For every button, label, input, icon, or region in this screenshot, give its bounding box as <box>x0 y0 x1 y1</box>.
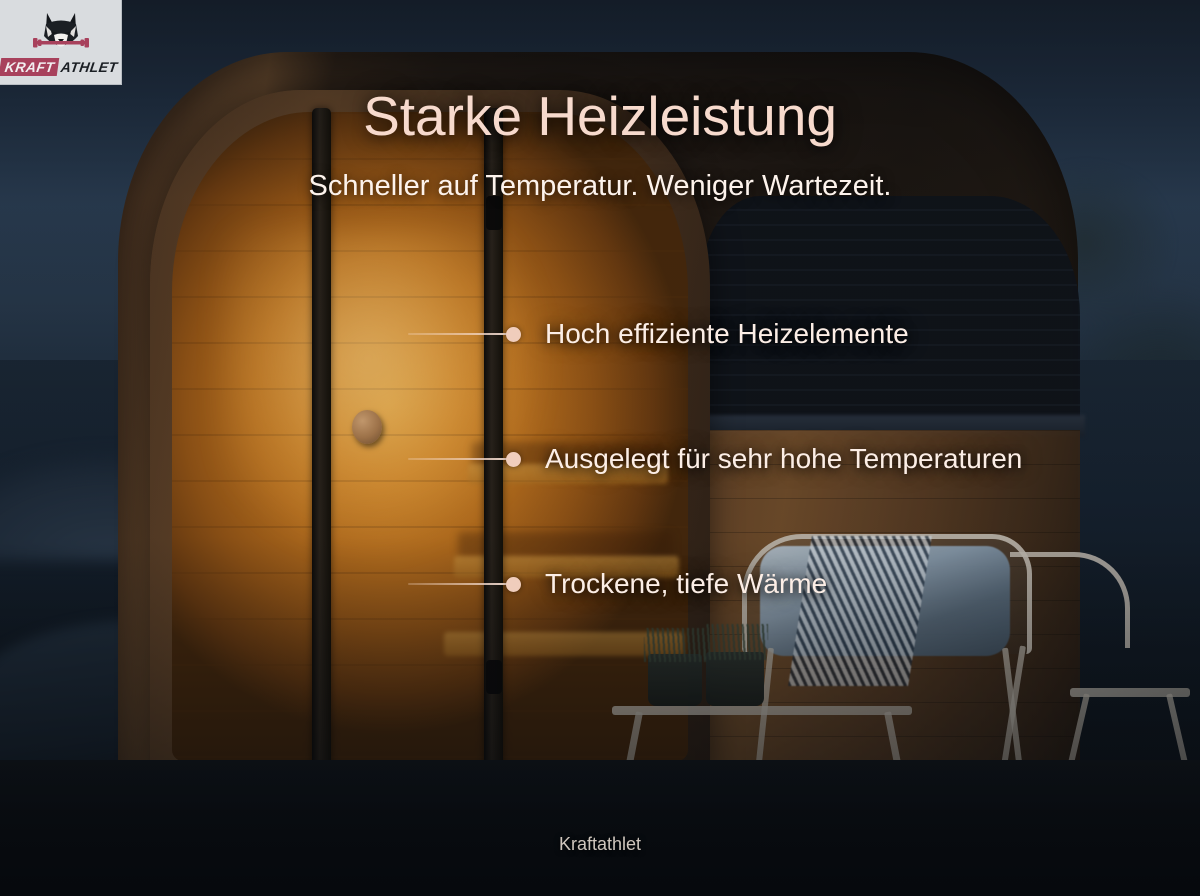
feature-callout-list: Hoch effiziente Heizelemente Ausgelegt f… <box>0 0 1200 896</box>
callout-leader-line <box>408 458 508 460</box>
callout-dot-marker <box>506 452 521 467</box>
overlay-content: KRAFTATHLET Starke Heizleistung Schnelle… <box>0 0 1200 896</box>
callout-leader-line <box>408 333 508 335</box>
callout-leader-line <box>408 583 508 585</box>
feature-callout: Hoch effiziente Heizelemente <box>408 318 909 350</box>
slide-canvas: KRAFTATHLET Starke Heizleistung Schnelle… <box>0 0 1200 896</box>
feature-label: Ausgelegt für sehr hohe Temperaturen <box>545 443 1022 475</box>
footer-caption: Kraftathlet <box>0 834 1200 855</box>
feature-callout: Trockene, tiefe Wärme <box>408 568 827 600</box>
callout-dot-marker <box>506 327 521 342</box>
feature-label: Hoch effiziente Heizelemente <box>545 318 909 350</box>
callout-dot-marker <box>506 577 521 592</box>
feature-callout: Ausgelegt für sehr hohe Temperaturen <box>408 443 1022 475</box>
feature-label: Trockene, tiefe Wärme <box>545 568 827 600</box>
